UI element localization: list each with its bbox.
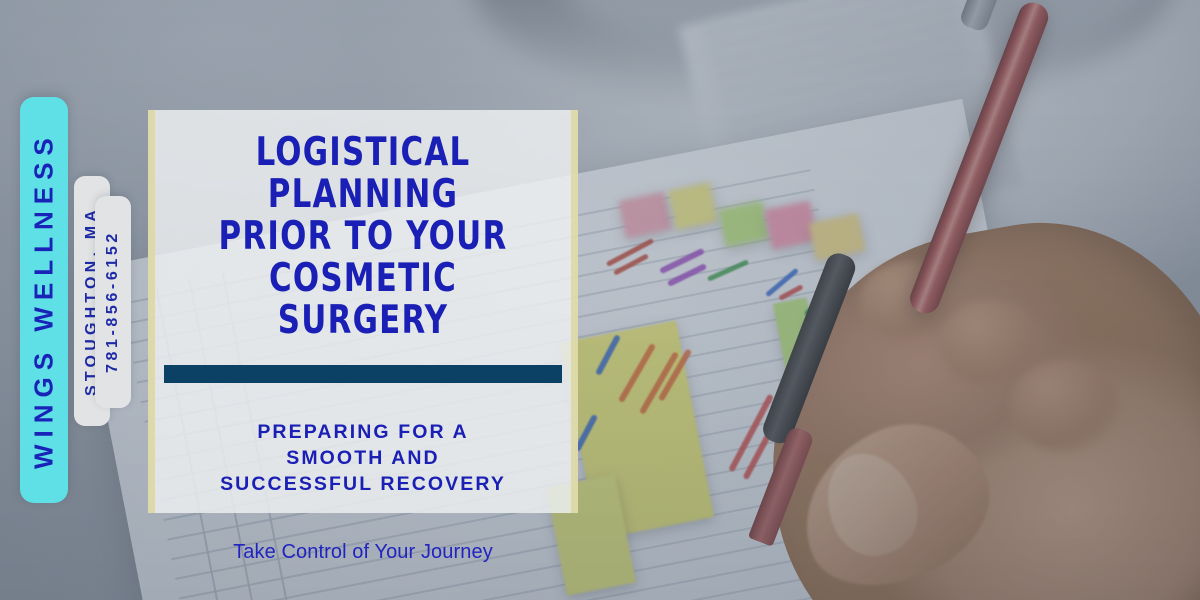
phone-tab[interactable]: 781-856-6152 [95, 196, 131, 408]
headline: LOGISTICAL PLANNING PRIOR TO YOUR COSMET… [191, 132, 536, 343]
subheadline: PREPARING FOR A SMOOTH AND SUCCESSFUL RE… [220, 419, 506, 497]
phone-label: 781-856-6152 [104, 231, 122, 374]
brand-name-label: WINGS WELLNESS [29, 131, 60, 469]
content-card: LOGISTICAL PLANNING PRIOR TO YOUR COSMET… [148, 110, 578, 513]
brand-name-tab: WINGS WELLNESS [20, 97, 68, 503]
divider-bar [164, 365, 562, 383]
tagline: Take Control of Your Journey [233, 541, 493, 564]
marketing-banner: WINGS WELLNESS STOUGHTON, MA 781-856-615… [0, 0, 1200, 600]
